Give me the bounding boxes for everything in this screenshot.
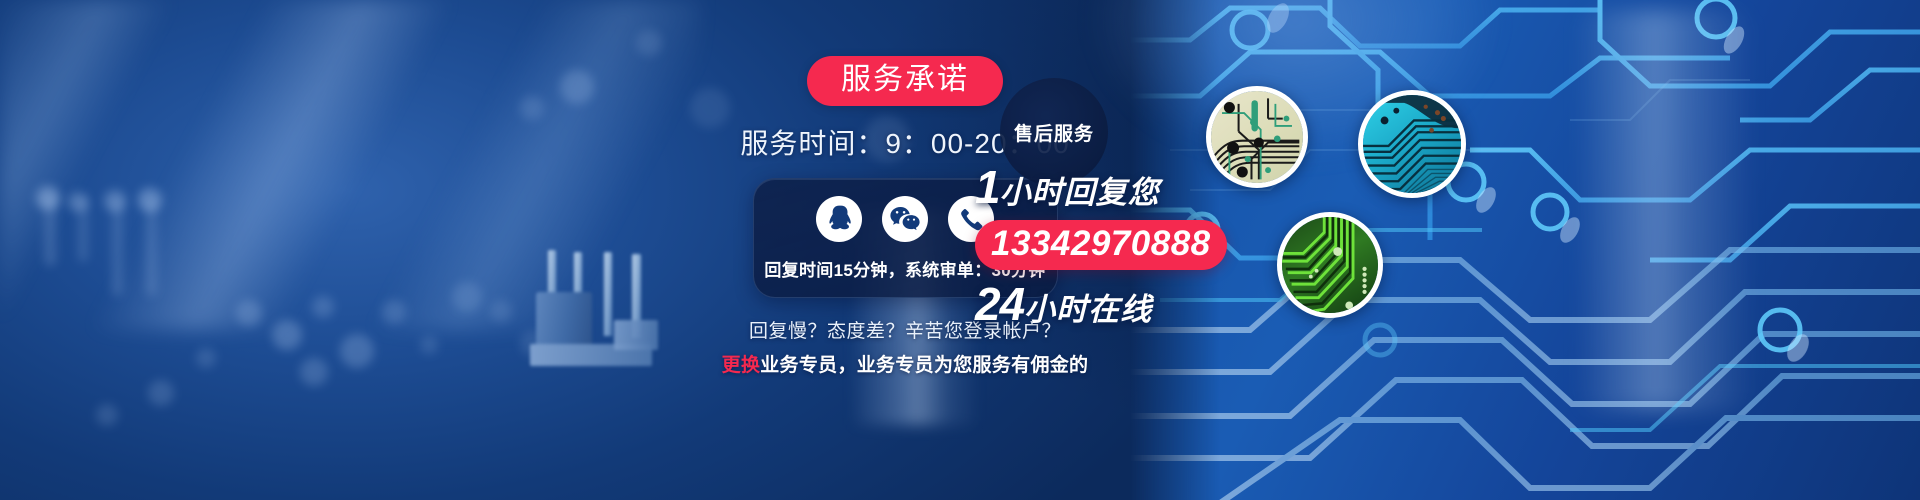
right-contact-block: 1小时回复您 13342970888 24小时在线 [975,160,1205,331]
wechat-icon[interactable] [882,196,928,242]
service-promise-banner: 服务承诺 服务时间：9：00-20：00 [0,0,1920,500]
one-hour-label: 小时回复您 [1000,175,1160,210]
service-promise-badge: 服务承诺 [807,56,1003,106]
online-24h-text: 24小时在线 [975,277,1205,331]
online-24h-number: 24 [975,278,1024,330]
phone-number-text: 13342970888 [991,224,1211,263]
online-24h-label: 小时在线 [1024,292,1152,327]
switch-agent-rest: 业务专员，业务专员为您服务有佣金的 [760,355,1088,376]
one-hour-number: 1 [975,161,1000,213]
switch-agent-highlight: 更换 [722,355,761,376]
qq-icon[interactable] [816,196,862,242]
pcb-cream-traces [1211,91,1303,183]
pcb-circle-cream [1206,86,1308,188]
switch-agent-text: 更换业务专员，业务专员为您服务有佣金的 [722,350,1089,377]
chip-highlight-glow [1575,10,1755,410]
pcb-cyan-traces [1363,95,1461,193]
phone-number-pill[interactable]: 13342970888 [975,220,1227,270]
pcb-green-traces [1282,217,1378,313]
contact-icon-row [816,196,994,242]
pcb-circle-green [1277,212,1383,318]
one-hour-reply-text: 1小时回复您 [975,160,1205,214]
after-sales-label: 售后服务 [1014,119,1094,146]
pcb-circle-cyan [1358,90,1466,198]
